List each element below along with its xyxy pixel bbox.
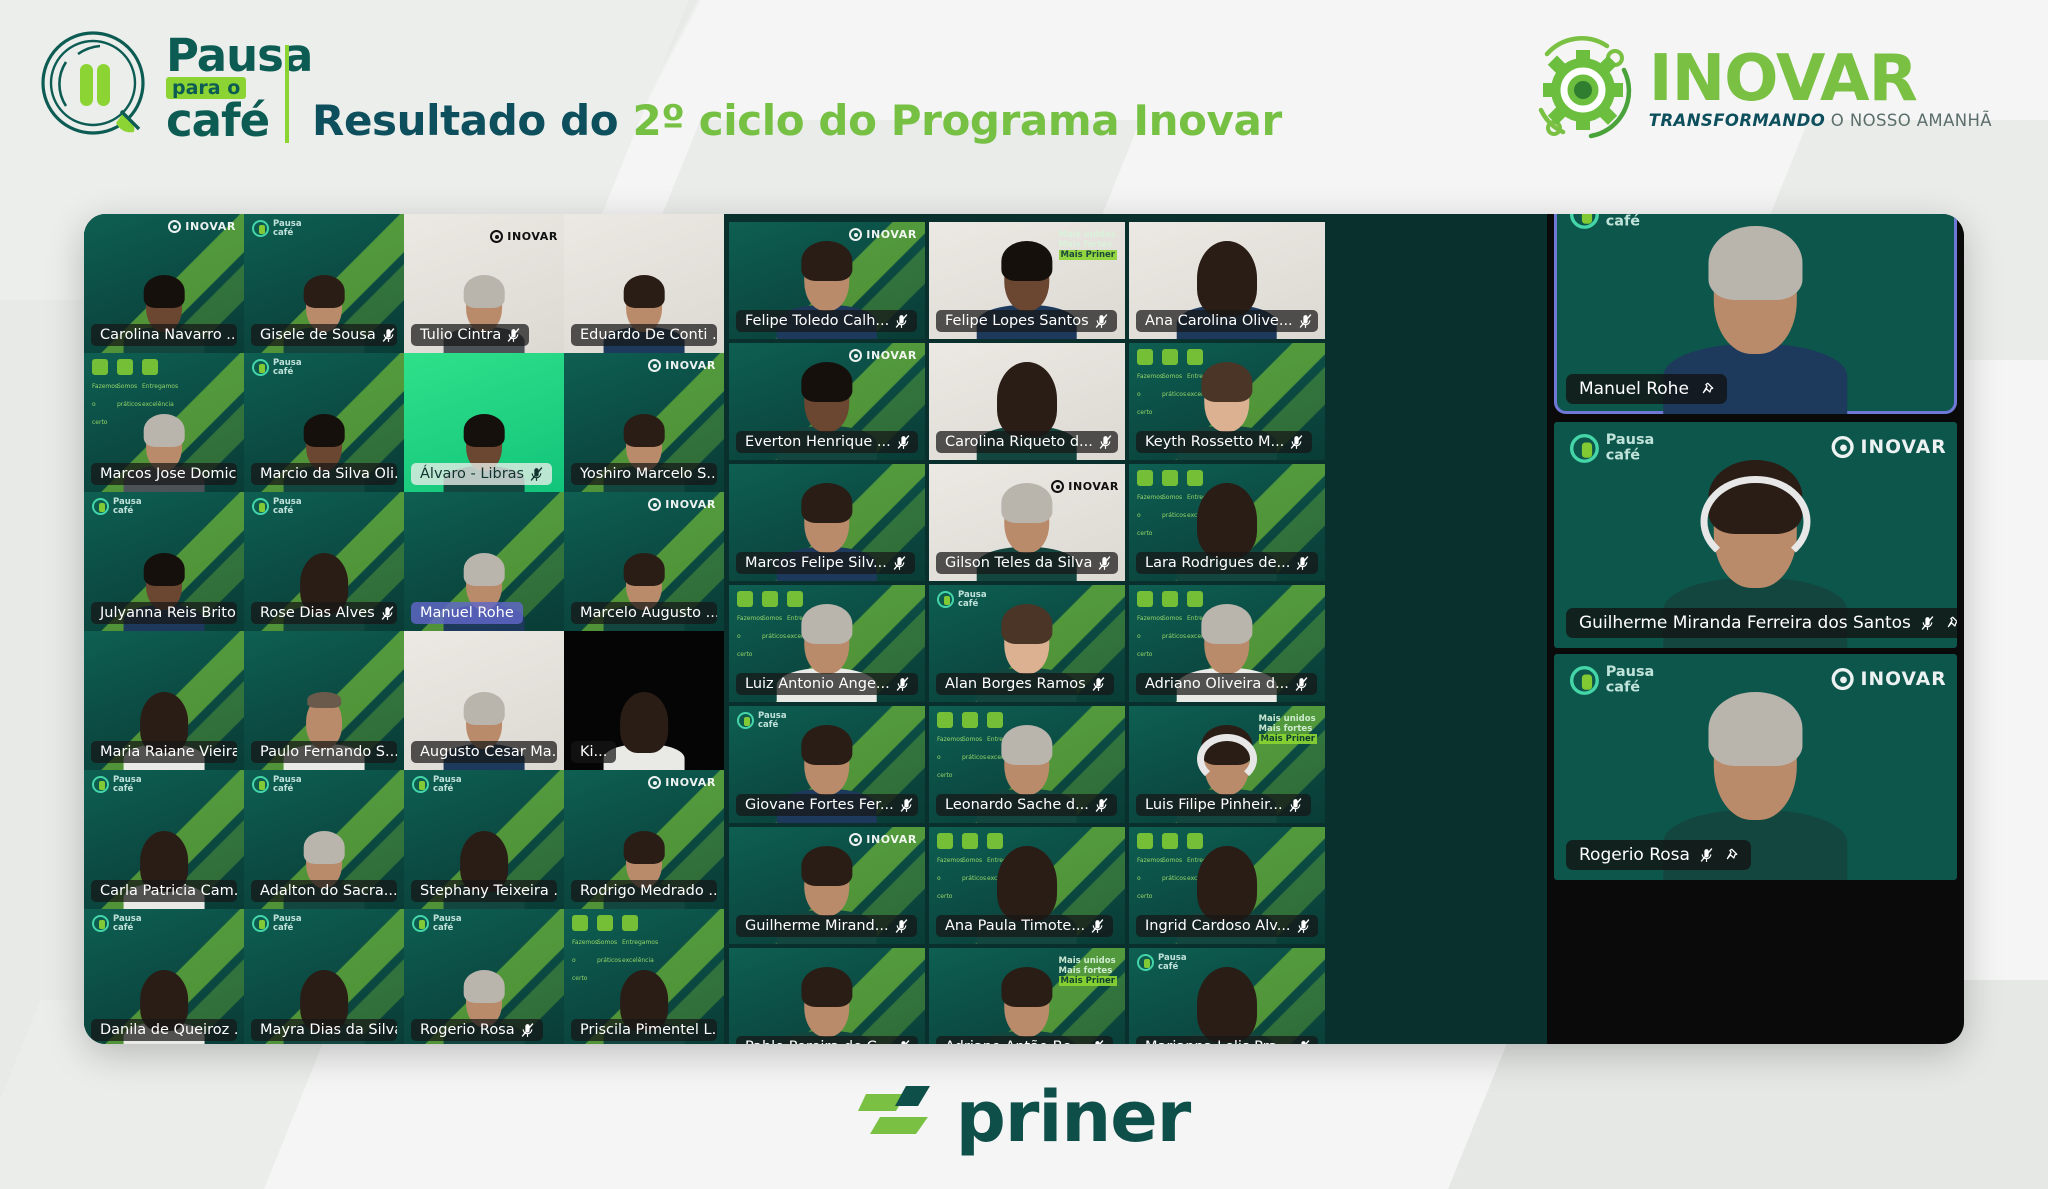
participant-name-badge: Gisele de Sousa xyxy=(251,324,397,346)
avatar-hair xyxy=(802,846,853,886)
avatar-hair xyxy=(997,846,1056,921)
pausa-line3: café xyxy=(166,99,294,143)
page-title: Resultado do 2º ciclo do Programa Inovar xyxy=(312,96,1282,145)
participant-tile[interactable]: Fazemoso certoSomospráticosEntregamosexc… xyxy=(1129,585,1325,702)
participant-name-badge: Manuel Rohe xyxy=(411,602,523,624)
participant-name-badge: Adriano Antão Be... xyxy=(936,1036,1113,1044)
inovar-tagline-bold: TRANSFORMANDO xyxy=(1649,111,1825,130)
participant-name: Carolina Navarro ... xyxy=(100,327,237,343)
participant-name-badge: Ingrid Cardoso Alv... xyxy=(1136,915,1318,937)
avatar-hair xyxy=(463,692,504,725)
avatar-hair xyxy=(1002,241,1053,281)
spotlight-name-badge: Manuel Rohe xyxy=(1566,374,1727,404)
participant-tile[interactable]: Fazemoso certoSomospráticosEntregamosexc… xyxy=(729,585,925,702)
participant-name-badge: Marcelo Augusto ... xyxy=(571,602,717,624)
participant-name-badge: Priscila Pimentel L... xyxy=(571,1019,717,1041)
participant-tile[interactable]: Fazemoso certoSomospráticosEntregamosexc… xyxy=(1129,464,1325,581)
participant-tile[interactable]: PausacaféGisele de Sousa xyxy=(244,214,404,353)
participant-tile[interactable]: Fazemoso certoSomospráticosEntregamosexc… xyxy=(929,827,1125,944)
participant-name: Luiz Antonio Ange... xyxy=(745,676,890,692)
participant-tile[interactable]: PausacaféJulyanna Reis Brito xyxy=(84,492,244,631)
participant-name-badge: Paulo Fernando S... xyxy=(251,741,397,763)
spotlight-sidebar[interactable]: PausacaféManuel RohePausacaféINOVARGuilh… xyxy=(1547,214,1964,1044)
participant-name: Danila de Queiroz ... xyxy=(100,1022,237,1038)
mic-off-icon xyxy=(896,677,909,692)
avatar-hair xyxy=(1202,362,1253,402)
pin-icon[interactable] xyxy=(1944,616,1957,631)
participant-tile[interactable]: Maria Raiane Vieira xyxy=(84,631,244,770)
participant-name-badge: Adriano Oliveira d... xyxy=(1136,673,1317,695)
avatar-hair xyxy=(623,275,664,308)
avatar-hair xyxy=(1002,483,1053,523)
participant-name-badge: Mayra Dias da Silva xyxy=(251,1019,397,1041)
spotlight-tile[interactable]: PausacaféINOVARGuilherme Miranda Ferreir… xyxy=(1554,422,1957,648)
participant-name: Julyanna Reis Brito xyxy=(100,605,236,621)
participant-name: Mayra Dias da Silva xyxy=(260,1022,397,1038)
pausa-wordmark: Pausa para o café xyxy=(166,35,294,139)
participant-name-badge: Ana Paula Timote... xyxy=(936,915,1113,937)
participant-tile[interactable]: Fazemoso certoSomospráticosEntregamosexc… xyxy=(564,909,724,1044)
participant-tile[interactable]: PausacaféMayra Dias da Silva xyxy=(244,909,404,1044)
slide-header: Pausa para o café Resultado do 2º ciclo … xyxy=(0,0,2048,186)
mic-off-icon xyxy=(1299,314,1312,329)
mic-off-icon xyxy=(521,1023,534,1038)
participant-name-badge: Carla Patricia Cam... xyxy=(91,880,237,902)
participant-name: Marcelo Augusto ... xyxy=(580,605,717,621)
avatar-hair xyxy=(303,275,344,308)
participant-name: Ingrid Cardoso Alv... xyxy=(1145,918,1291,934)
inovar-tagline: TRANSFORMANDO O NOSSO AMANHÃ xyxy=(1649,111,1992,130)
participant-tile[interactable]: PausacaféGiovane Fortes Fer... xyxy=(729,706,925,823)
participant-name: Keyth Rossetto M... xyxy=(1145,434,1284,450)
mic-off-icon xyxy=(507,328,520,343)
spotlight-tile[interactable]: PausacaféINOVARRogerio Rosa xyxy=(1554,654,1957,880)
participant-name-badge: Eduardo De Conti ... xyxy=(571,324,717,346)
participant-name: Stephany Teixeira ... xyxy=(420,883,557,899)
mic-off-icon xyxy=(1095,798,1108,813)
participant-tile[interactable]: Mais unidosMais fortesMais PrinerLuis Fi… xyxy=(1129,706,1325,823)
mic-off-icon xyxy=(897,435,910,450)
participant-name: Yoshiro Marcelo S... xyxy=(580,466,717,482)
participant-name-badge: Leonardo Sache d... xyxy=(936,794,1117,816)
participant-name-badge: Ana Carolina Olive... xyxy=(1136,310,1318,332)
participant-name: Manuel Rohe xyxy=(1579,379,1689,399)
participant-avatar xyxy=(991,974,1064,1044)
priner-mark-icon xyxy=(858,1084,936,1150)
mic-off-icon xyxy=(900,798,913,813)
participant-name: Rose Dias Alves xyxy=(260,605,375,621)
participant-tile[interactable]: PausacaféMarcio da Silva Oli... xyxy=(244,353,404,492)
participant-tile[interactable]: PausacaféCarla Patricia Cam... xyxy=(84,770,244,909)
participant-name-badge: Keyth Rossetto M... xyxy=(1136,431,1312,453)
participant-grid[interactable]: INOVARCarolina Navarro ...PausacaféGisel… xyxy=(84,214,1547,1044)
avatar-hair xyxy=(303,831,344,864)
mic-off-icon xyxy=(1921,616,1934,631)
gear-icon xyxy=(1529,36,1637,144)
participant-tile[interactable]: Fazemoso certoSomospráticosEntregamosexc… xyxy=(929,706,1125,823)
mic-off-icon xyxy=(530,467,543,482)
participant-name: Tulio Cintra xyxy=(420,327,501,343)
participant-name: Álvaro - Libras xyxy=(420,466,524,482)
participant-name-badge: Carolina Riqueto d... xyxy=(936,431,1118,453)
participant-tile[interactable]: Manuel Rohe xyxy=(404,492,564,631)
participant-name-badge: Adalton do Sacra... xyxy=(251,880,397,902)
participant-tile[interactable]: PausacaféDanila de Queiroz ... xyxy=(84,909,244,1044)
mic-off-icon xyxy=(1289,798,1302,813)
mic-off-icon xyxy=(895,314,908,329)
headset-icon xyxy=(1701,476,1810,567)
participant-name-badge: Ki... xyxy=(571,741,616,763)
avatar-hair xyxy=(1197,241,1256,316)
mic-off-icon xyxy=(1092,677,1105,692)
mic-off-icon xyxy=(1290,435,1303,450)
participant-name: Ana Carolina Olive... xyxy=(1145,313,1293,329)
participant-name: Leonardo Sache d... xyxy=(945,797,1089,813)
avatar-hair xyxy=(1197,483,1256,558)
participant-avatar xyxy=(791,974,864,1044)
avatar-hair xyxy=(802,967,853,1007)
participant-name-badge: Tulio Cintra xyxy=(411,324,529,346)
mic-off-icon xyxy=(1091,919,1104,934)
participant-name: Lara Rodrigues de... xyxy=(1145,555,1290,571)
participant-name: Marcos Felipe Silv... xyxy=(745,555,887,571)
participant-tile[interactable]: INOVARTulio Cintra xyxy=(404,214,564,353)
participant-name-badge: Marcio da Silva Oli... xyxy=(251,463,397,485)
avatar-hair xyxy=(1709,226,1802,300)
mic-off-icon xyxy=(893,556,906,571)
participant-name: Luis Filipe Pinheir... xyxy=(1145,797,1283,813)
participant-name-badge: Gilson Teles da Silva xyxy=(936,552,1118,574)
mic-off-icon xyxy=(382,328,395,343)
avatar-hair xyxy=(307,692,341,708)
mic-off-icon xyxy=(895,919,908,934)
avatar-hair xyxy=(463,970,504,1003)
participant-name: Guilherme Mirand... xyxy=(745,918,889,934)
participant-tile[interactable]: Fazemoso certoSomospráticosEntregamosexc… xyxy=(1129,343,1325,460)
mic-off-icon xyxy=(381,606,394,621)
priner-wordmark: priner xyxy=(956,1076,1190,1158)
avatar-hair xyxy=(1002,967,1053,1007)
participant-tile[interactable]: INOVARCarolina Navarro ... xyxy=(84,214,244,353)
avatar-hair xyxy=(143,414,184,447)
participant-name: Alan Borges Ramos xyxy=(945,676,1086,692)
spotlight-name-badge: Rogerio Rosa xyxy=(1566,840,1751,870)
participant-name-badge: Rogerio Rosa xyxy=(411,1019,543,1041)
participant-name: Gisele de Sousa xyxy=(260,327,376,343)
page-title-accent: 2º ciclo do Programa Inovar xyxy=(632,96,1281,145)
participant-tile[interactable]: Álvaro - Libras xyxy=(404,353,564,492)
avatar-hair xyxy=(1202,604,1253,644)
header-divider xyxy=(285,45,289,143)
avatar-hair xyxy=(802,241,853,281)
avatar-hair xyxy=(463,414,504,447)
participant-name-badge: Yoshiro Marcelo S... xyxy=(571,463,717,485)
participant-tile[interactable]: INOVARYoshiro Marcelo S... xyxy=(564,353,724,492)
avatar-hair xyxy=(143,553,184,586)
mic-off-icon xyxy=(1296,556,1309,571)
avatar-hair xyxy=(143,275,184,308)
participant-tile[interactable]: Ana Carolina Olive... xyxy=(1129,222,1325,339)
spotlight-name-badge: Guilherme Miranda Ferreira dos Santos xyxy=(1566,608,1957,638)
mic-off-icon xyxy=(1098,556,1111,571)
participant-name: Giovane Fortes Fer... xyxy=(745,797,894,813)
participant-tile[interactable]: Pablo Pereira de C... xyxy=(729,948,925,1044)
participant-name: Carolina Riqueto d... xyxy=(945,434,1093,450)
participant-tile[interactable]: Augusto Cesar Ma... xyxy=(404,631,564,770)
avatar-hair xyxy=(463,275,504,308)
pin-icon[interactable] xyxy=(1723,848,1738,863)
mic-off-icon xyxy=(1297,919,1310,934)
participant-tile[interactable]: PausacaféAdalton do Sacra... xyxy=(244,770,404,909)
participant-name: Rodrigo Medrado ... xyxy=(580,883,717,899)
avatar-hair xyxy=(623,414,664,447)
participant-name: Priscila Pimentel L... xyxy=(580,1022,717,1038)
participant-tile[interactable]: PausacaféStephany Teixeira ... xyxy=(404,770,564,909)
pausa-line1: Pausa xyxy=(166,35,294,76)
participant-name-badge: Lara Rodrigues de... xyxy=(1136,552,1318,574)
participant-tile[interactable]: Marcos Felipe Silv... xyxy=(729,464,925,581)
participant-name: Ki... xyxy=(580,744,607,760)
participant-tile[interactable]: INOVARGuilherme Mirand... xyxy=(729,827,925,944)
avatar-hair xyxy=(1709,692,1802,766)
pin-icon[interactable] xyxy=(1699,382,1714,397)
participant-name-badge: Rodrigo Medrado ... xyxy=(571,880,717,902)
participant-tile[interactable]: Mais unidosMais fortesMais PrinerFelipe … xyxy=(929,222,1125,339)
participant-tile[interactable]: INOVARGilson Teles da Silva xyxy=(929,464,1125,581)
participant-name: Everton Henrique ... xyxy=(745,434,891,450)
avatar-hair xyxy=(1002,604,1053,644)
avatar-hair xyxy=(802,604,853,644)
participant-name: Rogerio Rosa xyxy=(420,1022,515,1038)
mic-off-icon xyxy=(1099,435,1112,450)
participant-name: Maria Raiane Vieira xyxy=(100,744,237,760)
participant-tile[interactable]: PausacaféMarianna Lelis Pra... xyxy=(1129,948,1325,1044)
participant-name: Ana Paula Timote... xyxy=(945,918,1085,934)
slide-canvas: Pausa para o café Resultado do 2º ciclo … xyxy=(0,0,2048,1189)
page-title-prefix: Resultado do xyxy=(312,96,632,145)
participant-name: Manuel Rohe xyxy=(420,605,514,621)
participant-tile[interactable]: Ki... xyxy=(564,631,724,770)
participant-name: Marcos Jose Domicia... xyxy=(100,466,237,482)
participant-name: Felipe Toledo Calh... xyxy=(745,313,889,329)
participant-name: Guilherme Miranda Ferreira dos Santos xyxy=(1579,613,1911,633)
participant-tile[interactable]: Paulo Fernando S... xyxy=(244,631,404,770)
participant-name-badge: Luiz Antonio Ange... xyxy=(736,673,918,695)
participant-name-badge: Alan Borges Ramos xyxy=(936,673,1114,695)
priner-logo: priner xyxy=(0,1044,2048,1189)
participant-name-badge: Rose Dias Alves xyxy=(251,602,397,624)
participant-tile[interactable]: Fazemoso certoSomospráticosEntregamosexc… xyxy=(1129,827,1325,944)
participant-name: Augusto Cesar Ma... xyxy=(420,744,557,760)
magnifier-icon xyxy=(38,28,156,146)
participant-tile[interactable]: INOVARRodrigo Medrado ... xyxy=(564,770,724,909)
participant-tile[interactable]: INOVAREverton Henrique ... xyxy=(729,343,925,460)
participant-name-badge: Maria Raiane Vieira xyxy=(91,741,237,763)
avatar-hair xyxy=(1002,725,1053,765)
participant-name-badge: Felipe Lopes Santos xyxy=(936,310,1117,332)
participant-tile[interactable]: PausacaféRose Dias Alves xyxy=(244,492,404,631)
participant-avatar xyxy=(1191,974,1264,1044)
participant-tile[interactable]: PausacaféAlan Borges Ramos xyxy=(929,585,1125,702)
inovar-tagline-rest: O NOSSO AMANHÃ xyxy=(1825,111,1992,130)
inovar-wordmark: INOVAR TRANSFORMANDO O NOSSO AMANHÃ xyxy=(1649,50,1992,131)
participant-tile[interactable]: Eduardo De Conti ... xyxy=(564,214,724,353)
participant-tile[interactable]: INOVARFelipe Toledo Calh... xyxy=(729,222,925,339)
participant-name-badge: Everton Henrique ... xyxy=(736,431,918,453)
participant-tile[interactable]: Mais unidosMais fortesMais PrinerAdriano… xyxy=(929,948,1125,1044)
avatar-hair xyxy=(997,362,1056,437)
avatar-hair xyxy=(620,692,669,753)
participant-name-badge: Stephany Teixeira ... xyxy=(411,880,557,902)
participant-name: Carla Patricia Cam... xyxy=(100,883,237,899)
participant-name-badge: Julyanna Reis Brito xyxy=(91,602,237,624)
avatar-hair xyxy=(303,414,344,447)
participant-name-badge: Guilherme Mirand... xyxy=(736,915,917,937)
participant-name: Felipe Lopes Santos xyxy=(945,313,1089,329)
headset-icon xyxy=(1197,734,1256,784)
inovar-logo: INOVAR TRANSFORMANDO O NOSSO AMANHÃ xyxy=(1529,36,1992,144)
participant-name: Adriano Oliveira d... xyxy=(1145,676,1289,692)
avatar-hair xyxy=(802,362,853,402)
participant-name-badge: Marcos Jose Domicia... xyxy=(91,463,237,485)
avatar-hair xyxy=(1197,967,1256,1042)
participant-name: Adalton do Sacra... xyxy=(260,883,397,899)
participant-name: Marcio da Silva Oli... xyxy=(260,466,397,482)
participant-name: Eduardo De Conti ... xyxy=(580,327,717,343)
participant-name-badge: Marcos Felipe Silv... xyxy=(736,552,915,574)
spotlight-tile[interactable]: PausacaféManuel Rohe xyxy=(1554,214,1957,414)
video-meeting-window[interactable]: INOVARCarolina Navarro ...PausacaféGisel… xyxy=(84,214,1964,1044)
participant-name-badge: Luis Filipe Pinheir... xyxy=(1136,794,1311,816)
participant-tile[interactable]: Fazemoso certoSomospráticosEntregamosexc… xyxy=(84,353,244,492)
avatar-hair xyxy=(623,831,664,864)
mic-off-icon xyxy=(1295,677,1308,692)
participant-name-badge: Marianna Lelis Pra... xyxy=(1136,1036,1318,1044)
participant-name-badge: Giovane Fortes Fer... xyxy=(736,794,918,816)
pausa-para-o-cafe-logo: Pausa para o café xyxy=(38,28,294,146)
avatar-hair xyxy=(802,483,853,523)
participant-tile[interactable]: PausacaféRogerio Rosa xyxy=(404,909,564,1044)
participant-name-badge: Danila de Queiroz ... xyxy=(91,1019,237,1041)
participant-name-badge: Pablo Pereira de C... xyxy=(736,1036,918,1044)
participant-avatar xyxy=(614,697,673,770)
avatar-hair xyxy=(463,553,504,586)
inovar-word: INOVAR xyxy=(1649,50,1992,109)
participant-tile[interactable]: INOVARMarcelo Augusto ... xyxy=(564,492,724,631)
avatar-hair xyxy=(623,553,664,586)
participant-name: Paulo Fernando S... xyxy=(260,744,397,760)
participant-name: Rogerio Rosa xyxy=(1579,845,1690,865)
participant-tile[interactable]: Carolina Riqueto d... xyxy=(929,343,1125,460)
participant-name-badge: Felipe Toledo Calh... xyxy=(736,310,917,332)
mic-off-icon xyxy=(1700,848,1713,863)
participant-name: Gilson Teles da Silva xyxy=(945,555,1092,571)
avatar-hair xyxy=(1197,846,1256,921)
participant-name-badge: Carolina Navarro ... xyxy=(91,324,237,346)
participant-name-badge: Augusto Cesar Ma... xyxy=(411,741,557,763)
avatar-hair xyxy=(802,725,853,765)
participant-name-badge: Álvaro - Libras xyxy=(411,463,552,485)
mic-off-icon xyxy=(1095,314,1108,329)
